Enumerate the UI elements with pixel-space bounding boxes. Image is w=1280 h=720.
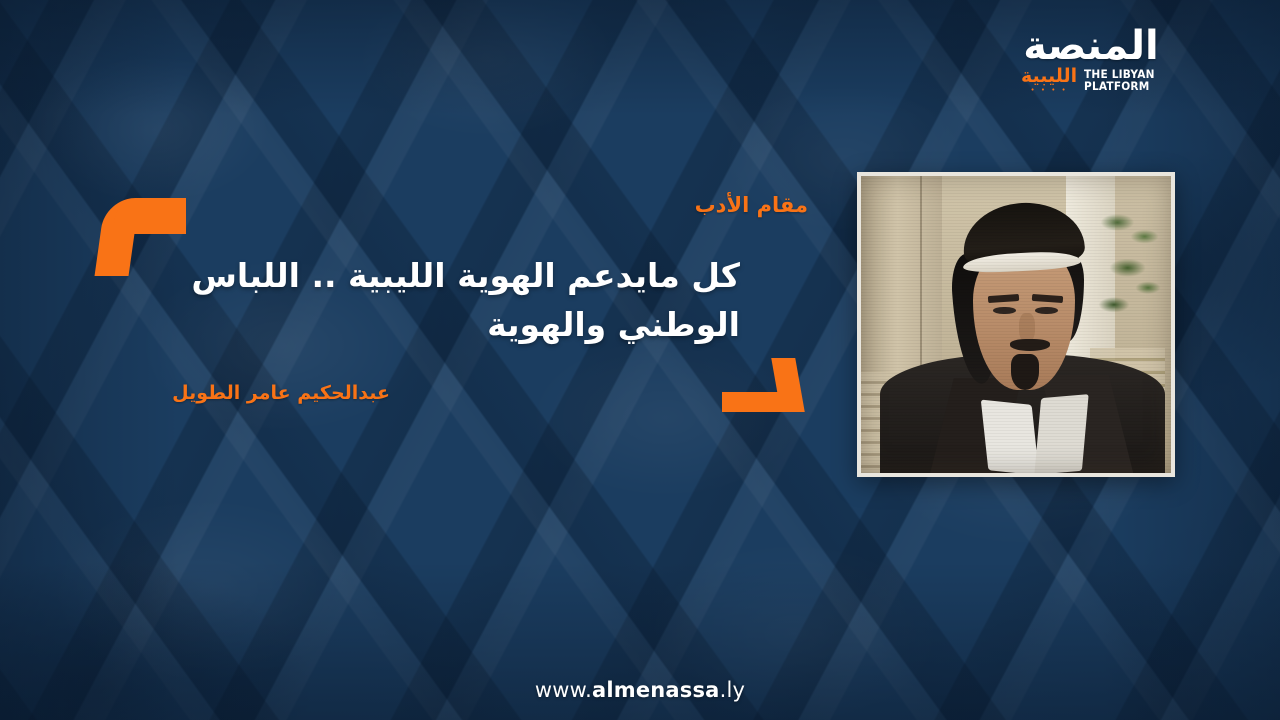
- url-name: almenassa: [592, 678, 720, 702]
- category-kicker: مقام الأدب: [695, 193, 808, 217]
- portrait-bg-seam: [920, 176, 922, 390]
- portrait-collar-right: [1034, 394, 1088, 473]
- portrait-bg-column: [861, 176, 942, 390]
- portrait-collar-left: [981, 399, 1039, 473]
- logo-arabic-main: المنصة: [1023, 26, 1159, 66]
- page-title: كل مايدعم الهوية الليبية .. اللباس الوطن…: [170, 252, 740, 350]
- author-portrait-frame: [857, 172, 1175, 477]
- author-portrait: [861, 176, 1171, 473]
- quote-close-bracket-icon: [722, 358, 800, 412]
- portrait-nose: [1019, 313, 1035, 343]
- logo-secondary-row: THE LIBYAN PLATFORM الليبية • • • •: [1006, 67, 1176, 93]
- author-byline: عبدالحكيم عامر الطويل: [172, 382, 390, 404]
- logo-dots: • • • •: [1021, 88, 1077, 93]
- portrait-bg-plant: [1097, 194, 1165, 337]
- url-prefix: www.: [535, 678, 592, 702]
- logo-english: THE LIBYAN PLATFORM: [1084, 68, 1155, 92]
- portrait-beard: [1011, 354, 1039, 390]
- url-tld: .ly: [720, 678, 746, 702]
- article-promo-card: المنصة THE LIBYAN PLATFORM الليبية • • •…: [0, 0, 1280, 720]
- logo-english-line2: PLATFORM: [1084, 79, 1149, 93]
- logo-arabic-sub-group: الليبية • • • •: [1021, 67, 1077, 93]
- footer-website-url[interactable]: www.almenassa.ly: [0, 678, 1280, 702]
- logo-arabic-sub: الليبية: [1021, 67, 1077, 87]
- brand-logo[interactable]: المنصة THE LIBYAN PLATFORM الليبية • • •…: [1006, 26, 1176, 93]
